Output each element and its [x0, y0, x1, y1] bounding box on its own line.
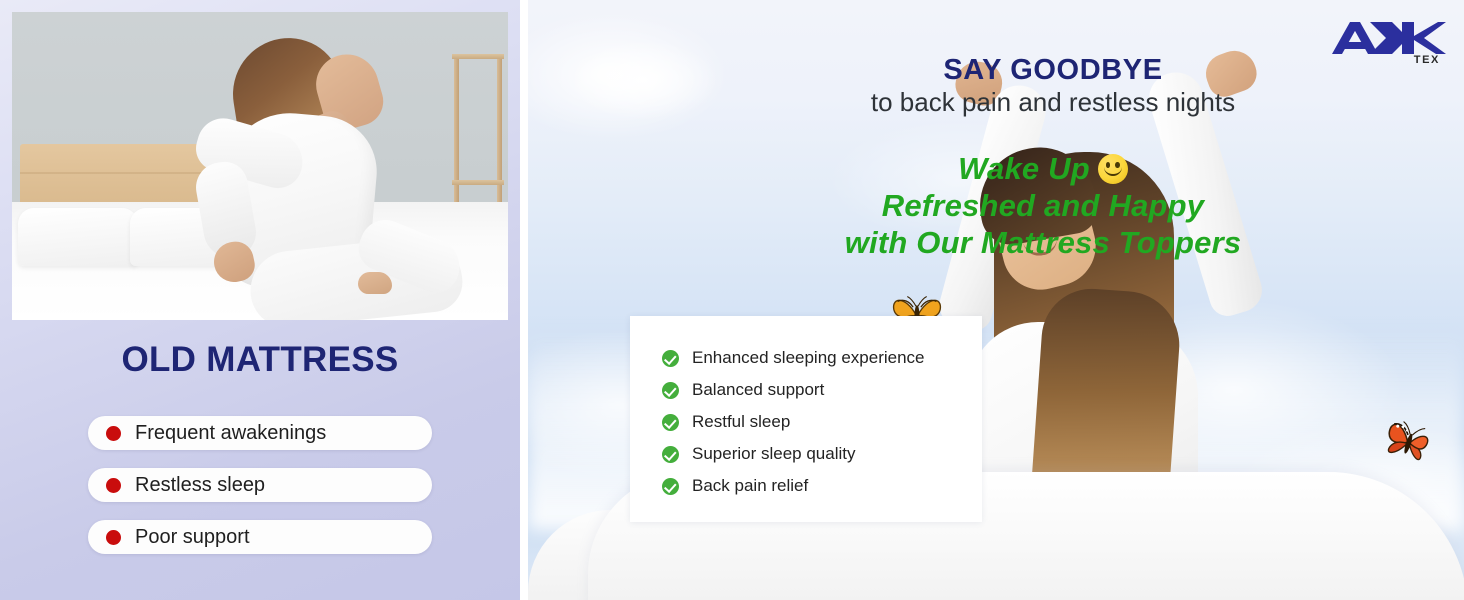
green-headline-line-3: with Our Mattress Toppers	[528, 224, 1464, 261]
problem-label: Poor support	[135, 526, 250, 549]
smiley-face-icon	[1098, 154, 1128, 184]
photo-pillow	[18, 208, 138, 266]
red-dot-icon	[106, 426, 121, 441]
subheadline: to back pain and restless nights	[528, 87, 1464, 118]
check-circle-icon	[662, 414, 679, 431]
old-mattress-problem-list: Frequent awakenings Restless sleep Poor …	[88, 416, 432, 554]
list-item: Superior sleep quality	[662, 438, 982, 470]
list-item: Back pain relief	[662, 470, 982, 502]
benefit-label: Balanced support	[692, 380, 824, 400]
red-dot-icon	[106, 530, 121, 545]
green-headline: Wake Up Refreshed and Happy with Our Mat…	[528, 150, 1464, 261]
list-item: Restful sleep	[662, 406, 982, 438]
benefit-label: Restful sleep	[692, 412, 790, 432]
brand-logo: TEX	[1330, 18, 1446, 72]
logo-subtext: TEX	[1330, 54, 1446, 66]
green-headline-text-1: Wake Up	[958, 151, 1090, 186]
benefit-label: Back pain relief	[692, 476, 808, 496]
check-circle-icon	[662, 478, 679, 495]
old-mattress-panel: OLD MATTRESS Frequent awakenings Restles…	[0, 0, 520, 600]
panel-divider	[520, 0, 528, 600]
benefits-card: Enhanced sleeping experience Balanced su…	[630, 316, 982, 522]
list-item: Frequent awakenings	[88, 416, 432, 450]
new-mattress-panel: SAY GOODBYE to back pain and restless ni…	[528, 0, 1464, 600]
green-headline-line-2: Refreshed and Happy	[528, 187, 1464, 224]
check-circle-icon	[662, 446, 679, 463]
list-item: Balanced support	[662, 374, 982, 406]
photo-woman-back-pain	[162, 34, 462, 320]
benefit-label: Enhanced sleeping experience	[692, 348, 925, 368]
promo-banner: OLD MATTRESS Frequent awakenings Restles…	[0, 0, 1464, 600]
headline-say-goodbye: SAY GOODBYE	[528, 54, 1464, 87]
old-mattress-title: OLD MATTRESS	[0, 340, 520, 380]
problem-label: Restless sleep	[135, 474, 265, 497]
benefit-label: Superior sleep quality	[692, 444, 855, 464]
adk-logo-icon	[1330, 18, 1446, 58]
problem-label: Frequent awakenings	[135, 422, 326, 445]
list-item: Enhanced sleeping experience	[662, 342, 982, 374]
red-dot-icon	[106, 478, 121, 493]
list-item: Poor support	[88, 520, 432, 554]
check-circle-icon	[662, 350, 679, 367]
list-item: Restless sleep	[88, 468, 432, 502]
old-mattress-photo	[12, 12, 508, 320]
green-headline-line-1: Wake Up	[528, 150, 1464, 187]
check-circle-icon	[662, 382, 679, 399]
